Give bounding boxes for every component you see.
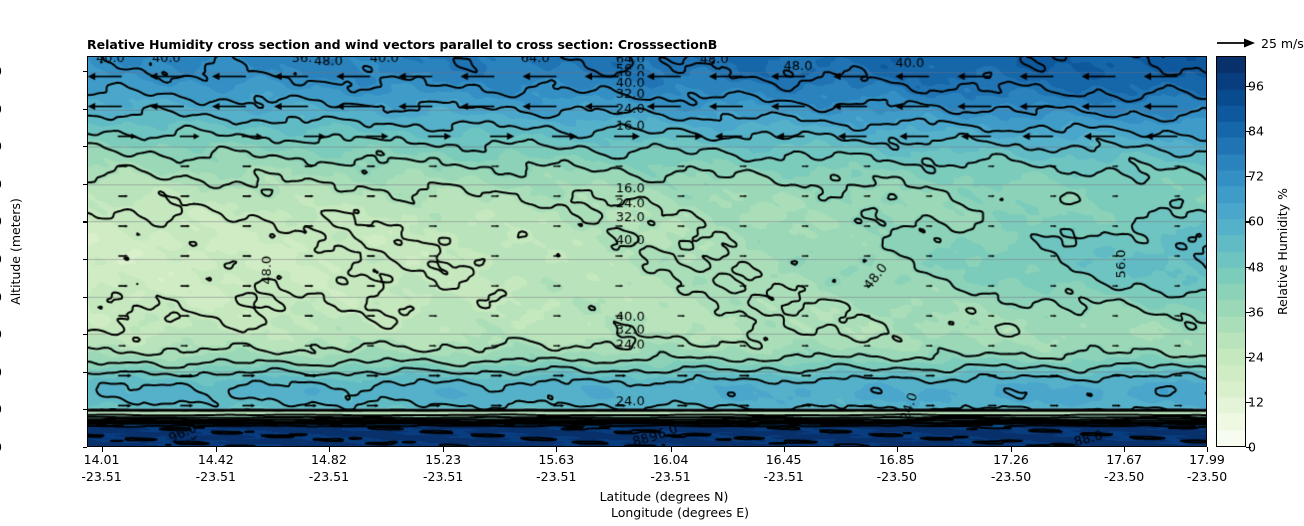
x-axis-tick-mark <box>216 447 217 452</box>
x-axis-tick-label: 14.42-23.51 <box>196 452 236 485</box>
y-axis-tick-label: 3000.0 <box>0 327 2 342</box>
x-tick-latitude: 15.23 <box>423 452 463 469</box>
colorbar-tick-mark <box>1246 131 1251 132</box>
y-axis-tick-mark <box>83 184 88 185</box>
x-axis-tick-mark <box>1207 447 1208 452</box>
x-tick-longitude: -23.51 <box>763 469 803 486</box>
colorbar-title-text: Relative Humidity % <box>1275 188 1290 315</box>
x-axis-tick-label: 15.63-23.51 <box>536 452 576 485</box>
x-tick-longitude: -23.51 <box>536 469 576 486</box>
y-axis-tick-label: 7000.0 <box>0 176 2 191</box>
x-tick-longitude: -23.51 <box>650 469 690 486</box>
x-axis-tick-label: 16.04-23.51 <box>650 452 690 485</box>
x-tick-latitude: 17.26 <box>991 452 1031 469</box>
y-axis-tick-label: 2000.0 <box>0 364 2 379</box>
colorbar-title: Relative Humidity % <box>1272 56 1292 447</box>
x-tick-longitude: -23.50 <box>1187 469 1227 486</box>
x-tick-latitude: 14.82 <box>309 452 349 469</box>
colorbar-tick-mark <box>1246 267 1251 268</box>
y-axis-tick-mark <box>83 221 88 222</box>
x-axis-tick-mark <box>784 447 785 452</box>
title-line-1: Relative Humidity cross section and wind… <box>87 37 1197 52</box>
contour-plot-area <box>87 56 1207 447</box>
colorbar <box>1216 56 1246 447</box>
x-tick-latitude: 17.67 <box>1104 452 1144 469</box>
x-axis-title-latitude: Latitude (degrees N) <box>0 489 1304 504</box>
y-axis-tick-mark <box>83 409 88 410</box>
x-axis-tick-label: 14.01-23.51 <box>81 452 121 485</box>
x-tick-latitude: 15.63 <box>536 452 576 469</box>
colorbar-tick-mark <box>1246 402 1251 403</box>
x-axis-tick-mark <box>329 447 330 452</box>
x-axis-tick-mark <box>556 447 557 452</box>
colorbar-tick-mark <box>1246 312 1251 313</box>
x-axis-tick-label: 17.26-23.50 <box>991 452 1031 485</box>
y-axis-tick-label: 0.0 <box>0 440 2 455</box>
x-tick-longitude: -23.51 <box>81 469 121 486</box>
y-axis-tick-label: 5000.0 <box>0 252 2 267</box>
x-axis-tick-label: 17.67-23.50 <box>1104 452 1144 485</box>
colorbar-tick-mark <box>1246 221 1251 222</box>
x-axis-tick-label: 16.85-23.50 <box>877 452 917 485</box>
x-tick-longitude: -23.50 <box>877 469 917 486</box>
y-axis-tick-label: 4000.0 <box>0 289 2 304</box>
colorbar-tick-mark <box>1246 357 1251 358</box>
x-axis-tick-mark <box>443 447 444 452</box>
x-axis-tick-label: 15.23-23.51 <box>423 452 463 485</box>
y-axis-tick-mark <box>83 372 88 373</box>
x-tick-longitude: -23.50 <box>1104 469 1144 486</box>
x-tick-latitude: 14.01 <box>81 452 121 469</box>
colorbar-gradient <box>1217 57 1245 446</box>
x-axis-tick-mark <box>897 447 898 452</box>
x-tick-latitude: 14.42 <box>196 452 236 469</box>
wind-vector-key: 25 m/s <box>1216 34 1304 52</box>
y-axis-tick-mark <box>83 71 88 72</box>
y-axis-tick-mark <box>83 259 88 260</box>
y-axis-tick-label: 10000.0 <box>0 64 2 79</box>
wind-key-label: 25 m/s <box>1261 36 1304 51</box>
x-tick-latitude: 16.04 <box>650 452 690 469</box>
colorbar-tick-mark <box>1246 176 1251 177</box>
y-axis-tick-label: 8000.0 <box>0 139 2 154</box>
y-axis-tick-label: 1000.0 <box>0 402 2 417</box>
x-axis-tick-mark <box>671 447 672 452</box>
x-tick-longitude: -23.50 <box>991 469 1031 486</box>
y-axis-tick-mark <box>83 146 88 147</box>
colorbar-tick-mark <box>1246 86 1251 87</box>
figure-root: Relative Humidity cross section and wind… <box>0 0 1304 526</box>
x-axis-tick-mark <box>102 447 103 452</box>
contour-canvas-layers <box>88 57 1206 446</box>
x-tick-longitude: -23.51 <box>423 469 463 486</box>
y-axis-tick-mark <box>83 447 88 448</box>
x-axis-tick-label: 17.99-23.50 <box>1187 452 1227 485</box>
x-tick-longitude: -23.51 <box>309 469 349 486</box>
colorbar-tick-mark <box>1246 447 1251 448</box>
y-axis-tick-label: 6000.0 <box>0 214 2 229</box>
x-tick-longitude: -23.51 <box>196 469 236 486</box>
x-tick-latitude: 16.85 <box>877 452 917 469</box>
y-axis-tick-mark <box>83 297 88 298</box>
wind-arrow-icon <box>1216 37 1256 49</box>
y-axis-tick-mark <box>83 334 88 335</box>
x-axis-title-longitude: Longitude (degrees E) <box>0 505 1304 520</box>
x-axis-tick-mark <box>1011 447 1012 452</box>
x-axis-tick-label: 16.45-23.51 <box>763 452 803 485</box>
contour-label-layer <box>88 57 1206 446</box>
x-axis-tick-mark <box>1124 447 1125 452</box>
y-axis-title-text: Altitude (meters) <box>8 198 23 305</box>
x-axis-tick-label: 14.82-23.51 <box>309 452 349 485</box>
y-axis-tick-mark <box>83 109 88 110</box>
x-tick-latitude: 16.45 <box>763 452 803 469</box>
y-axis-tick-label: 9000.0 <box>0 101 2 116</box>
y-axis-title: Altitude (meters) <box>6 56 24 447</box>
x-tick-latitude: 17.99 <box>1187 452 1227 469</box>
